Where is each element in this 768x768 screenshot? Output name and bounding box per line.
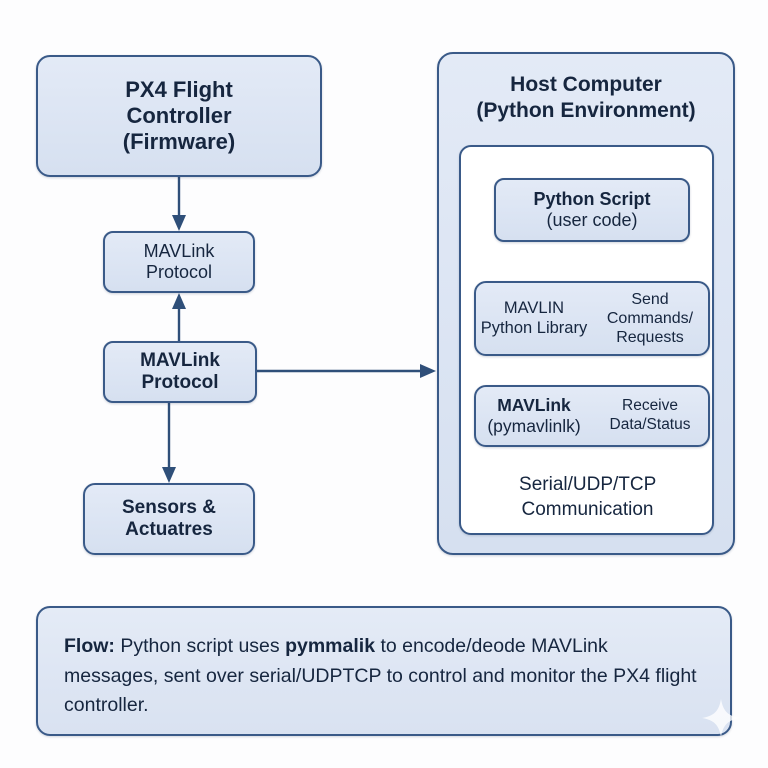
host-title-line-2: (Python Environment) — [439, 98, 733, 124]
sensors-line-1: Sensors & — [122, 497, 216, 519]
python-script-line-2: (user code) — [546, 210, 637, 231]
flow-label: Flow: — [64, 635, 115, 657]
serial-communication-label: Serial/UDP/TCP Communication — [465, 473, 710, 522]
px4-line-3: (Firmware) — [123, 129, 235, 155]
mavlink-protocol-top-box[interactable]: MAVLink Protocol — [103, 231, 255, 293]
mavlink-python-library-box[interactable]: MAVLIN Python Library Send Commands/ Req… — [474, 281, 710, 356]
pymavlink-line-1: MAVLink — [497, 395, 571, 415]
mavlink-library-line-3: Library — [537, 319, 587, 337]
mavlink-library-line-1: MAVLIN — [504, 299, 564, 317]
arrow-mavlink-to-sensors — [162, 403, 176, 483]
send-commands-line-2: Commands/ — [607, 310, 693, 327]
pymavlink-line-2: (pymavlinlk) — [487, 416, 580, 436]
receive-data-line-1: Receive — [622, 397, 678, 414]
mavlink-protocol-mid-line-2: Protocol — [141, 372, 218, 394]
mavlink-library-line-2: Python — [481, 319, 532, 337]
communication-line-1: Serial/UDP/TCP — [519, 474, 656, 495]
px4-line-2: Controller — [126, 103, 231, 129]
flow-emphasis-term: pymmalik — [285, 635, 375, 657]
arrow-mavlink-to-host-computer — [257, 364, 436, 378]
flow-text-part-1: Python script uses — [115, 635, 285, 657]
px4-line-1: PX4 Flight — [125, 77, 233, 103]
sensors-actuators-box[interactable]: Sensors & Actuatres — [83, 483, 255, 555]
host-title-line-1: Host Computer — [439, 72, 733, 98]
mavlink-protocol-top-line-1: MAVLink — [144, 241, 215, 262]
send-commands-line-1: Send — [631, 291, 668, 308]
px4-flight-controller-box[interactable]: PX4 Flight Controller (Firmware) — [36, 55, 322, 177]
mavlink-protocol-mid-line-1: MAVLink — [140, 350, 220, 372]
arrow-px4-to-mavlink-protocol — [172, 177, 186, 231]
receive-data-label: Receive Data/Status — [592, 397, 708, 434]
pymavlink-box[interactable]: MAVLink (pymavlinlk) Receive Data/Status — [474, 385, 710, 447]
mavlink-protocol-mid-box[interactable]: MAVLink Protocol — [103, 341, 257, 403]
diagram-canvas: PX4 Flight Controller (Firmware) MAVLink… — [0, 0, 768, 768]
receive-data-line-2: Data/Status — [610, 416, 691, 433]
python-script-box[interactable]: Python Script (user code) — [494, 178, 690, 242]
sensors-line-2: Actuatres — [125, 519, 213, 541]
communication-line-2: Communication — [522, 499, 654, 520]
flow-description-banner: Flow: Python script uses pymmalik to enc… — [36, 606, 732, 736]
send-commands-label: Send Commands/ Requests — [592, 290, 708, 348]
mavlink-protocol-top-line-2: Protocol — [146, 262, 212, 283]
mavlink-library-label: MAVLIN Python Library — [476, 299, 592, 339]
python-script-line-1: Python Script — [533, 189, 650, 210]
send-commands-line-3: Requests — [616, 329, 684, 346]
arrow-mavlink-mid-to-top — [172, 293, 186, 341]
pymavlink-label: MAVLink (pymavlinlk) — [476, 395, 592, 437]
host-computer-title: Host Computer (Python Environment) — [439, 72, 733, 123]
